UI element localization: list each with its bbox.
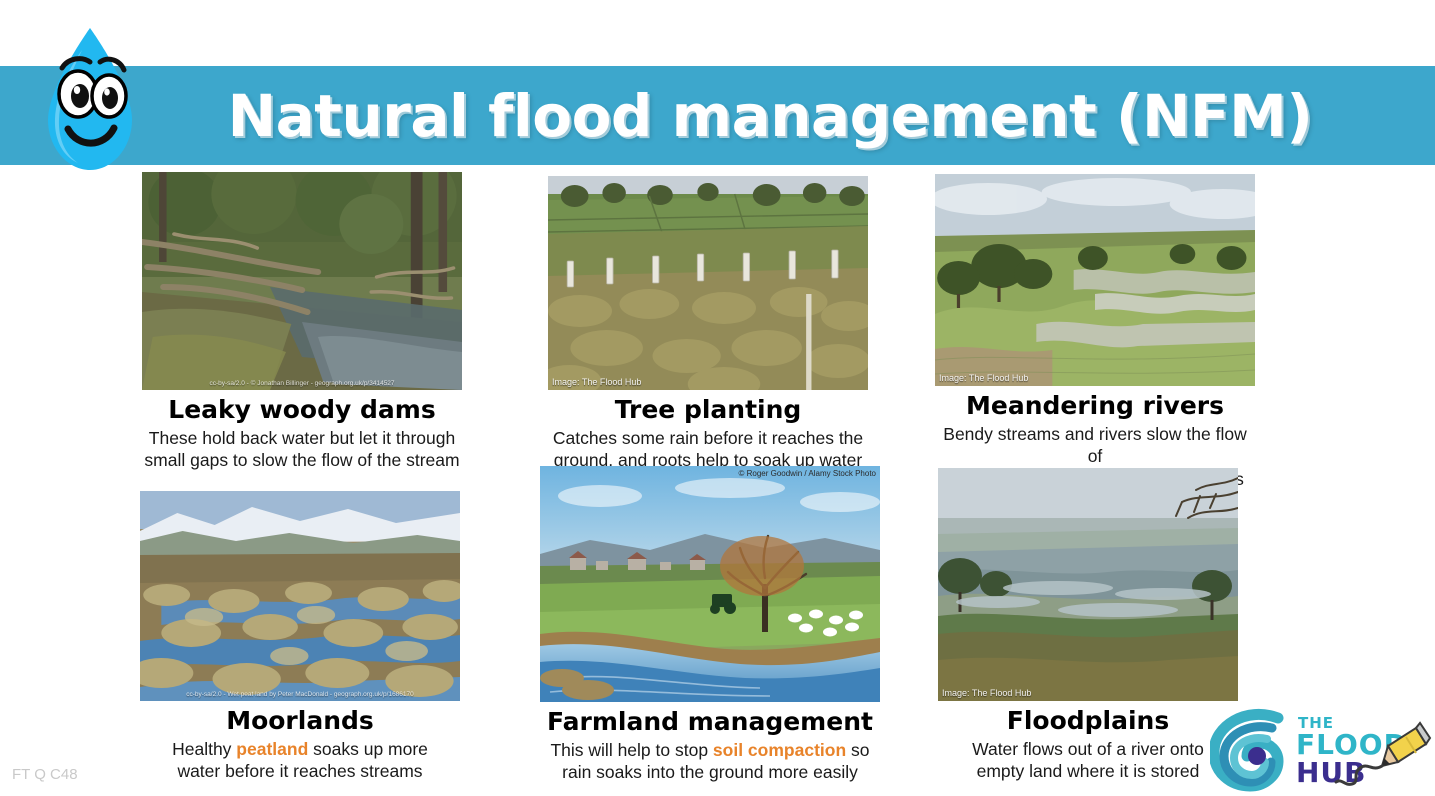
page-title: Natural flood management (NFM): [180, 66, 1360, 165]
image-credit: Image: The Flood Hub: [552, 377, 641, 387]
photo-leaky-woody-dams: cc-by-sa/2.0 - © Jonathan Billinger - ge…: [142, 172, 462, 390]
card-title: Farmland management: [540, 708, 880, 736]
nfm-card-grid: cc-by-sa/2.0 - © Jonathan Billinger - ge…: [0, 168, 1435, 796]
card-farmland-management[interactable]: © Roger Goodwin / Alamy Stock Photo Farm…: [540, 466, 880, 784]
desc-highlight-term: peatland: [236, 739, 308, 759]
card-title: Meandering rivers: [935, 392, 1255, 420]
card-title: Floodplains: [938, 707, 1238, 735]
slide-canvas: Natural flood management (NFM): [0, 0, 1435, 796]
image-credit: Image: The Flood Hub: [942, 688, 1031, 698]
card-leaky-woody-dams[interactable]: cc-by-sa/2.0 - © Jonathan Billinger - ge…: [142, 172, 462, 472]
card-title: Moorlands: [140, 707, 460, 735]
card-description-line1: Catches some rain before it reaches the: [548, 427, 868, 449]
card-description-line1: Bendy streams and rivers slow the flow o…: [935, 423, 1255, 468]
card-description-line1: Water flows out of a river onto: [938, 738, 1238, 760]
card-floodplains[interactable]: Image: The Flood Hub Floodplains Water f…: [938, 468, 1238, 783]
desc-text-pre: This will help to stop: [550, 740, 712, 760]
image-credit: Image: The Flood Hub: [939, 373, 1028, 383]
image-credit: cc-by-sa/2.0 - © Jonathan Billinger - ge…: [209, 380, 394, 387]
swirl-icon: [1214, 714, 1278, 786]
card-meandering-rivers[interactable]: Image: The Flood Hub Meandering rivers B…: [935, 174, 1255, 490]
desc-text-post: soaks up more: [308, 739, 428, 759]
image-credit: © Roger Goodwin / Alamy Stock Photo: [738, 469, 876, 478]
card-description: Water flows out of a river onto empty la…: [938, 738, 1238, 783]
photo-moorlands: cc-by-sa/2.0 - Wet peat land by Peter Ma…: [140, 491, 460, 701]
flood-hub-logo[interactable]: THE FLOOD HUB: [1210, 706, 1432, 792]
photo-floodplains: Image: The Flood Hub: [938, 468, 1238, 701]
water-droplet-icon: [34, 24, 146, 176]
card-moorlands[interactable]: cc-by-sa/2.0 - Wet peat land by Peter Ma…: [140, 491, 460, 783]
card-description: Healthy peatland soaks up more water bef…: [140, 738, 460, 783]
card-tree-planting[interactable]: Image: The Flood Hub Tree planting Catch…: [548, 176, 868, 472]
photo-farmland-management: © Roger Goodwin / Alamy Stock Photo: [540, 466, 880, 702]
card-description: This will help to stop soil compaction s…: [540, 739, 880, 784]
card-description-line2: empty land where it is stored: [938, 760, 1238, 782]
card-description-line1: This will help to stop soil compaction s…: [540, 739, 880, 761]
card-description: These hold back water but let it through…: [142, 427, 462, 472]
desc-text-post: so: [846, 740, 869, 760]
desc-text-pre: Healthy: [172, 739, 236, 759]
slide-reference-code: FT Q C48: [12, 766, 78, 783]
card-description-line1: These hold back water but let it through: [142, 427, 462, 449]
photo-meandering-rivers: Image: The Flood Hub: [935, 174, 1255, 386]
card-description-line2: small gaps to slow the flow of the strea…: [142, 449, 462, 471]
card-description-line2: water before it reaches streams: [140, 760, 460, 782]
card-title: Tree planting: [548, 396, 868, 424]
image-credit: cc-by-sa/2.0 - Wet peat land by Peter Ma…: [186, 691, 414, 698]
photo-tree-planting: Image: The Flood Hub: [548, 176, 868, 390]
card-title: Leaky woody dams: [142, 396, 462, 424]
card-description-line1: Healthy peatland soaks up more: [140, 738, 460, 760]
card-description-line2: rain soaks into the ground more easily: [540, 761, 880, 783]
desc-highlight-term: soil compaction: [713, 740, 846, 760]
